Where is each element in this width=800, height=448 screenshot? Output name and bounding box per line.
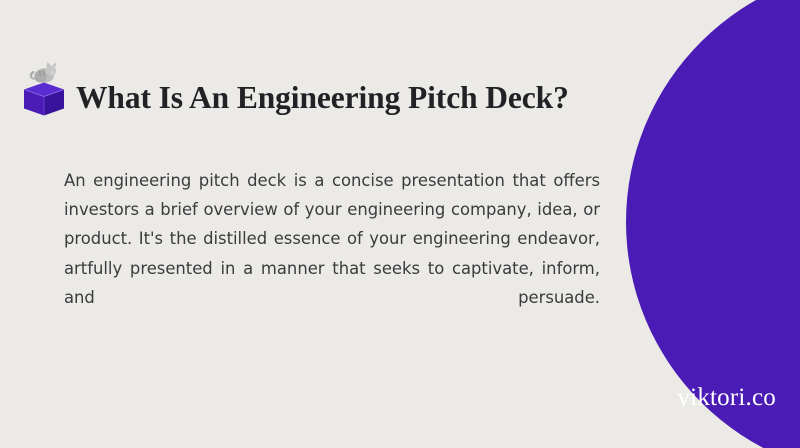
purple-cube-with-cat-icon — [22, 58, 66, 116]
brand-wordmark: viktori.co — [677, 383, 776, 413]
cube-icon — [24, 83, 64, 116]
accent-ellipse — [626, 0, 800, 448]
slide-canvas: What Is An Engineering Pitch Deck? An en… — [0, 0, 800, 448]
cat-icon — [30, 62, 56, 83]
slide-header: What Is An Engineering Pitch Deck? — [22, 58, 569, 116]
body-paragraph: An engineering pitch deck is a concise p… — [64, 166, 600, 341]
page-title: What Is An Engineering Pitch Deck? — [66, 82, 569, 114]
